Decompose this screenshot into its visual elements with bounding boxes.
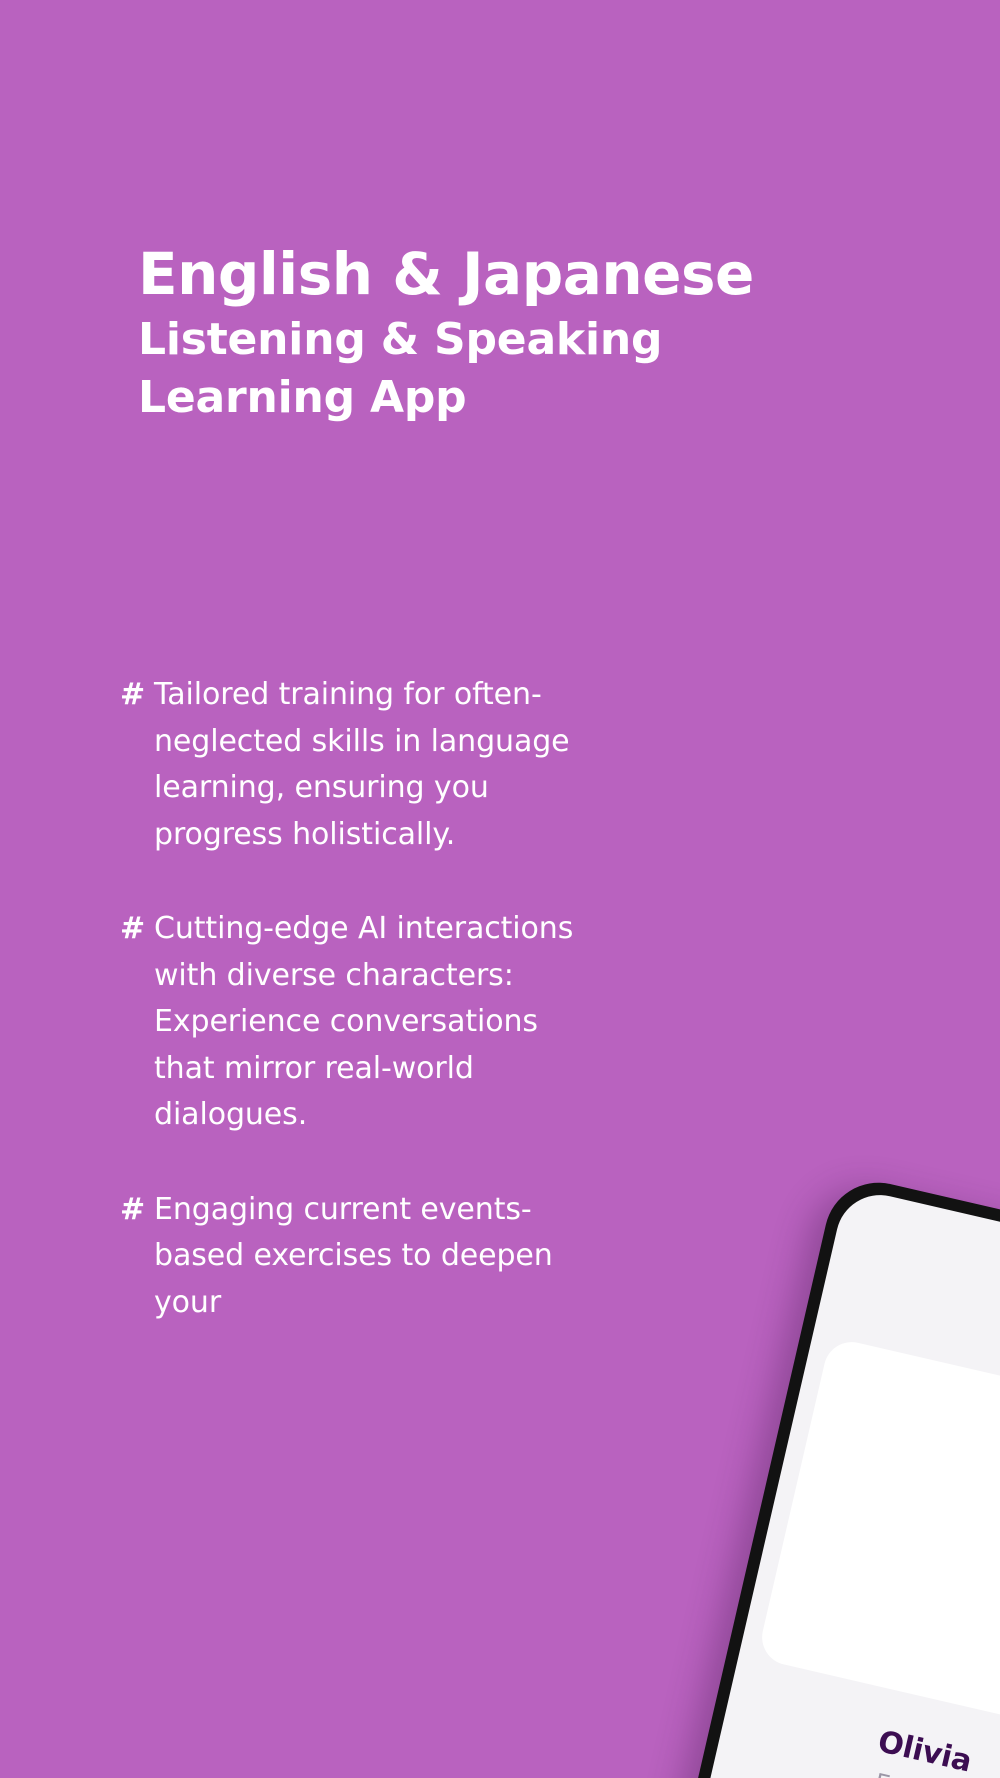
feature-text: Tailored training for often-neglected sk… [154,672,590,858]
page-title: English & Japanese [138,242,858,307]
phone-screen: Olivia English [659,1186,1000,1778]
hash-bullet-icon: # [120,672,154,719]
hash-bullet-icon: # [120,1187,154,1234]
hash-bullet-icon: # [120,906,154,953]
headline-block: English & Japanese Listening & Speaking … [138,242,858,428]
phone-frame: Olivia English [645,1172,1000,1778]
page-subtitle: Listening & Speaking Learning App [138,311,738,428]
list-item: # Engaging current events-based exercise… [120,1187,590,1327]
feature-text: Engaging current events-based exercises … [154,1187,590,1327]
promo-poster: English & Japanese Listening & Speaking … [0,0,1000,1778]
phone-mockup: Olivia English [645,1172,1000,1778]
list-item: # Tailored training for often-neglected … [120,672,590,858]
feature-list: # Tailored training for often-neglected … [120,672,590,1374]
character-card [757,1337,1000,1742]
feature-text: Cutting-edge AI interactions with divers… [154,906,590,1139]
list-item: # Cutting-edge AI interactions with dive… [120,906,590,1139]
